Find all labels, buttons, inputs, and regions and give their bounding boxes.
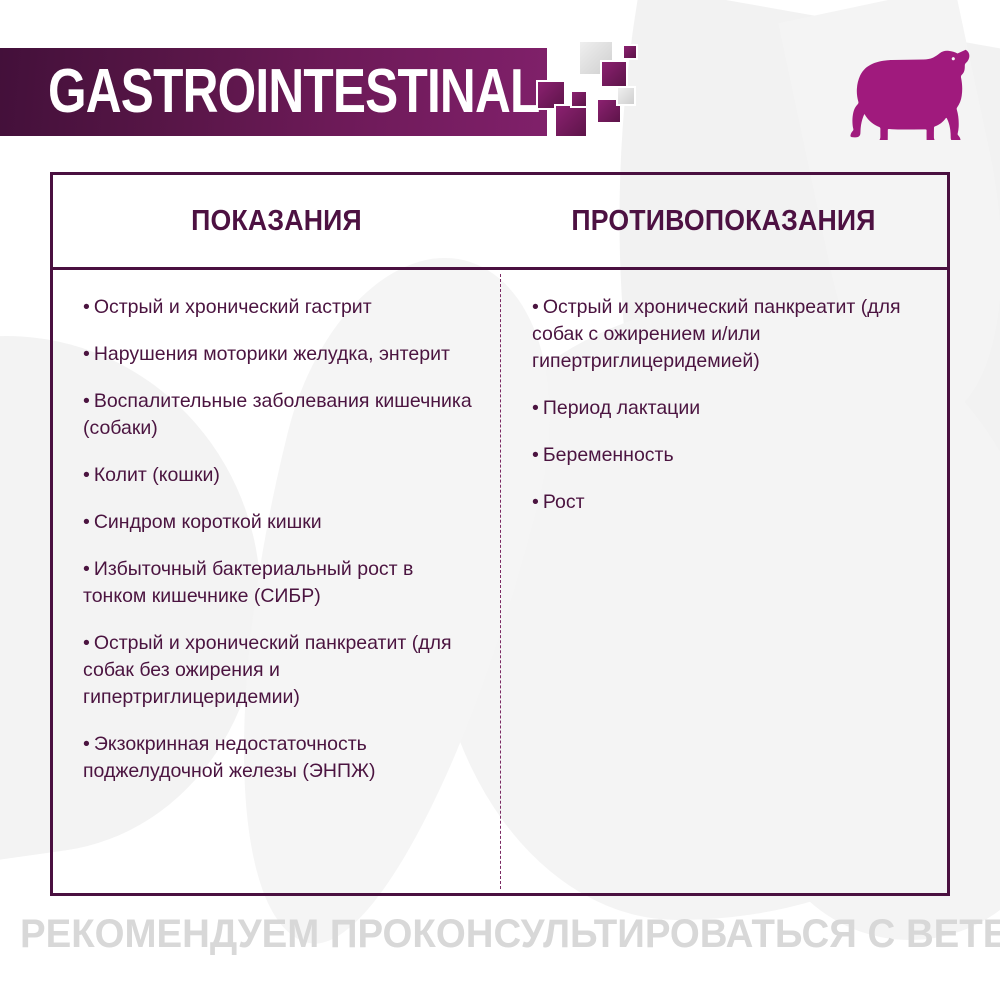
- veterinary-advice-note: РЕКОМЕНДУЕМ ПРОКОНСУЛЬТИРОВАТЬСЯ С ВЕТЕР…: [20, 912, 980, 957]
- bullet-icon: •: [532, 444, 539, 466]
- mosaic-square-purple-3: [600, 60, 628, 88]
- list-item-text: Острый и хронический гастрит: [94, 296, 372, 318]
- dog-silhouette-icon: [840, 44, 970, 140]
- header-banner: GASTROINTESTINAL: [0, 48, 547, 136]
- mosaic-square-purple-2: [554, 104, 588, 138]
- contraindications-column: •Острый и хронический панкреатит (для со…: [498, 270, 947, 893]
- bullet-icon: •: [83, 733, 90, 755]
- bullet-icon: •: [83, 390, 90, 412]
- list-item: •Период лактации: [532, 395, 922, 422]
- list-item: •Экзокринная недостаточность поджелудочн…: [83, 731, 473, 785]
- mosaic-square-purple-4: [622, 44, 638, 60]
- list-item-text: Беременность: [543, 444, 674, 466]
- indications-column: •Острый и хронический гастрит •Нарушения…: [53, 270, 498, 893]
- list-item-text: Синдром короткой кишки: [94, 511, 322, 533]
- list-item-text: Воспалительные заболевания кишечника (со…: [83, 390, 472, 439]
- list-item-text: Колит (кошки): [94, 464, 220, 486]
- mosaic-square-purple-6: [570, 90, 588, 108]
- bullet-icon: •: [83, 296, 90, 318]
- list-item: •Колит (кошки): [83, 462, 473, 489]
- list-item: •Острый и хронический гастрит: [83, 294, 473, 321]
- list-item-text: Период лактации: [543, 397, 700, 419]
- table-body: •Острый и хронический гастрит •Нарушения…: [53, 270, 947, 893]
- list-item: •Избыточный бактериальный рост в тонком …: [83, 556, 473, 610]
- bullet-icon: •: [532, 491, 539, 513]
- list-item-text: Острый и хронический панкреатит (для соб…: [83, 632, 452, 708]
- list-item-text: Рост: [543, 491, 585, 513]
- column-divider: [500, 274, 501, 889]
- list-item: •Нарушения моторики желудка, энтерит: [83, 341, 473, 368]
- bullet-icon: •: [83, 464, 90, 486]
- list-item: •Острый и хронический панкреатит (для со…: [532, 294, 922, 375]
- list-item-text: Нарушения моторики желудка, энтерит: [94, 343, 450, 365]
- table-header-row: ПОКАЗАНИЯ ПРОТИВОПОКАЗАНИЯ: [53, 175, 947, 270]
- list-item-text: Избыточный бактериальный рост в тонком к…: [83, 558, 413, 607]
- column-header-indications: ПОКАЗАНИЯ: [71, 175, 482, 267]
- list-item: •Острый и хронический панкреатит (для со…: [83, 630, 473, 711]
- bullet-icon: •: [83, 632, 90, 654]
- mosaic-square-gray-2: [616, 86, 636, 106]
- decorative-mosaic-squares: [530, 40, 650, 152]
- bullet-icon: •: [83, 511, 90, 533]
- bullet-icon: •: [83, 343, 90, 365]
- bullet-icon: •: [83, 558, 90, 580]
- list-item-text: Экзокринная недостаточность поджелудочно…: [83, 733, 375, 782]
- indications-table: ПОКАЗАНИЯ ПРОТИВОПОКАЗАНИЯ •Острый и хро…: [50, 172, 950, 896]
- list-item: •Синдром короткой кишки: [83, 509, 473, 536]
- page-title: GASTROINTESTINAL: [48, 61, 539, 123]
- column-header-contraindications: ПРОТИВОПОКАЗАНИЯ: [518, 175, 929, 267]
- list-item-text: Острый и хронический панкреатит (для соб…: [532, 296, 901, 372]
- list-item: •Беременность: [532, 442, 922, 469]
- list-item: •Воспалительные заболевания кишечника (с…: [83, 388, 473, 442]
- bullet-icon: •: [532, 296, 539, 318]
- bullet-icon: •: [532, 397, 539, 419]
- list-item: •Рост: [532, 489, 922, 516]
